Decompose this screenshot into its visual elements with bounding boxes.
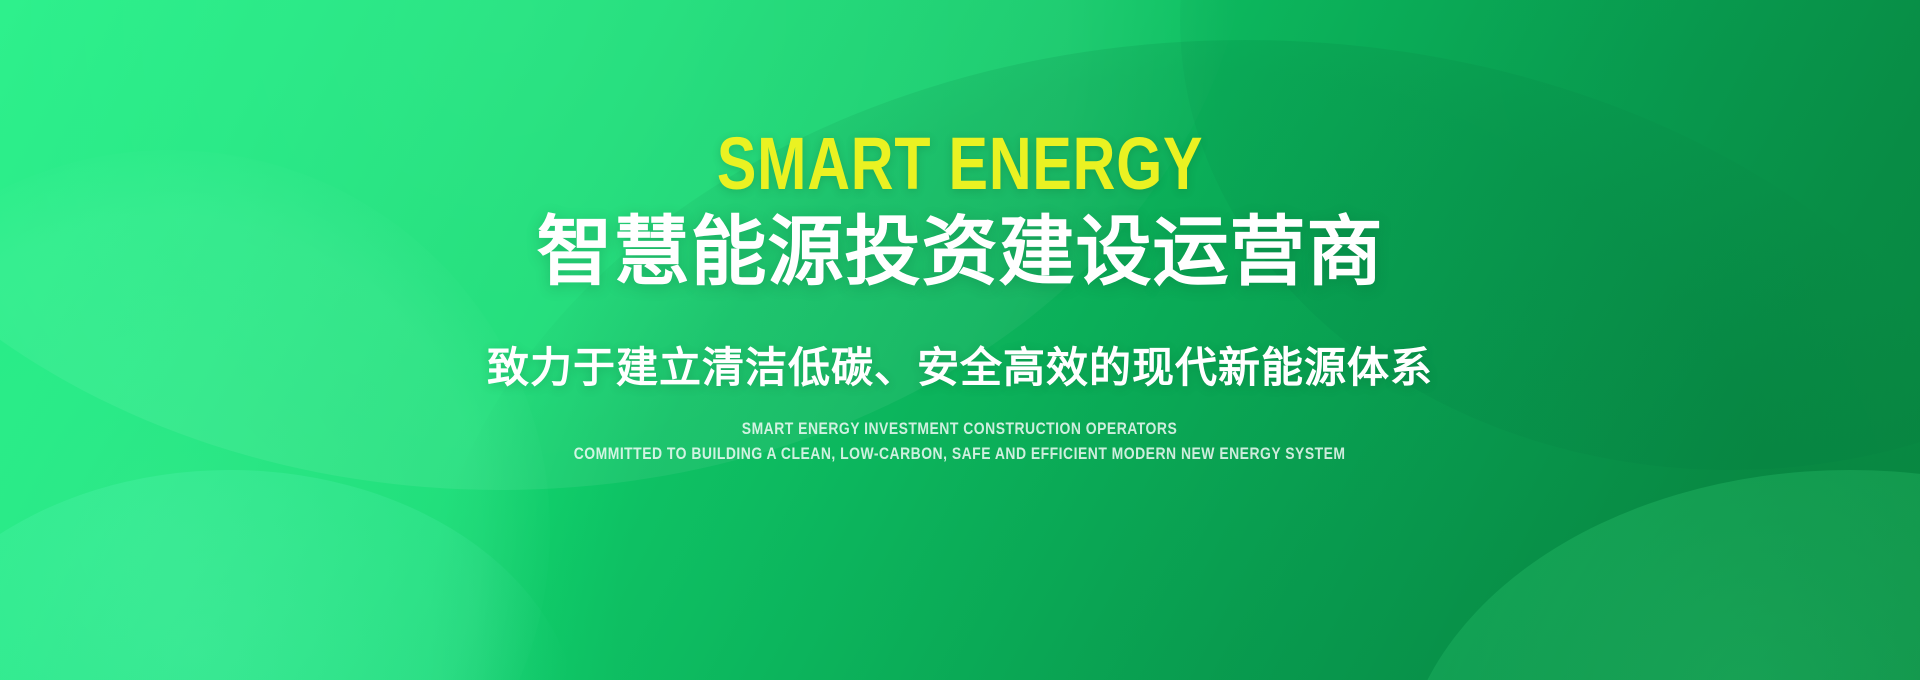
fineprint-line-1: SMART ENERGY INVESTMENT CONSTRUCTION OPE… — [742, 419, 1177, 439]
hero-banner: SMART ENERGY 智慧能源投资建设运营商 致力于建立清洁低碳、安全高效的… — [0, 0, 1920, 680]
fineprint-line-2: COMMITTED TO BUILDING A CLEAN, LOW-CARBO… — [574, 444, 1346, 464]
banner-fineprint-group: SMART ENERGY INVESTMENT CONSTRUCTION OPE… — [489, 419, 1430, 464]
banner-subheadline-chinese: 致力于建立清洁低碳、安全高效的现代新能源体系 — [487, 344, 1433, 392]
banner-headline-english: SMART ENERGY — [717, 128, 1204, 201]
banner-content: SMART ENERGY 智慧能源投资建设运营商 致力于建立清洁低碳、安全高效的… — [0, 0, 1920, 680]
banner-headline-chinese: 智慧能源投资建设运营商 — [537, 213, 1384, 293]
